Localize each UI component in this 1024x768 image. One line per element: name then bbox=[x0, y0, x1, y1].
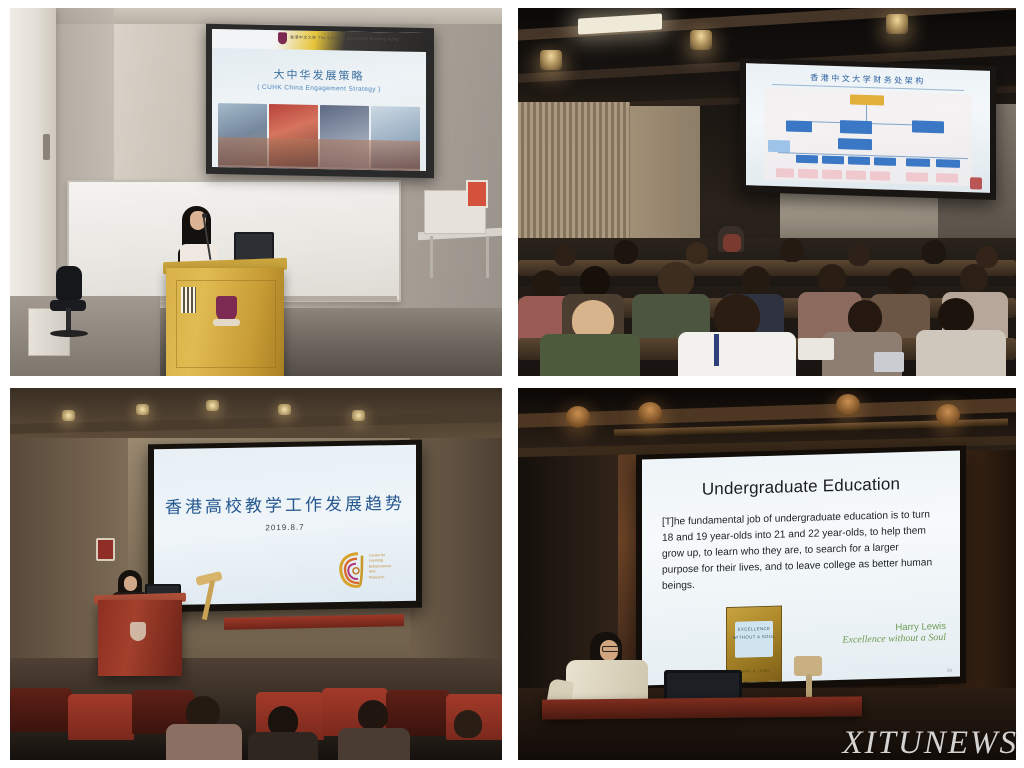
office-chair-pole bbox=[66, 308, 71, 332]
audience-head bbox=[686, 242, 708, 264]
projection-screen-bottom-right: Undergraduate Education [T]he fundamenta… bbox=[642, 451, 960, 686]
audience-head bbox=[888, 268, 914, 294]
org-chart bbox=[764, 88, 972, 187]
audience-head bbox=[742, 266, 770, 294]
slide-page-number: 29 bbox=[947, 668, 952, 673]
lanyard-icon bbox=[714, 334, 719, 366]
downlight-icon bbox=[638, 402, 662, 424]
downlight-icon bbox=[352, 410, 365, 421]
projection-screen-top-right: 香港中文大学财务处架构 bbox=[746, 63, 990, 193]
slide-title: Undergraduate Education bbox=[642, 473, 960, 502]
cuhk-crest-icon bbox=[278, 32, 287, 44]
audience-torso bbox=[248, 732, 318, 760]
lectern-label bbox=[181, 287, 196, 313]
photo-panel-top-right: 香港中文大学财务处架构 bbox=[518, 8, 1016, 376]
downlight-icon bbox=[206, 400, 219, 411]
audience-head bbox=[960, 264, 988, 292]
stage-person-shirt bbox=[723, 234, 741, 252]
book-cover-title: EXCELLENCE WITHOUT A SOUL bbox=[727, 625, 781, 642]
office-chair-back bbox=[56, 266, 82, 300]
slide-stamp-icon bbox=[970, 177, 982, 189]
notebook bbox=[798, 338, 834, 360]
photo-panel-bottom-left: 香港高校教学工作发展趋势 2019.8.7 Centre for Learnin… bbox=[10, 388, 502, 760]
audience-head bbox=[818, 264, 846, 292]
slide-title-cn: 香港高校教学工作发展趋势 bbox=[154, 489, 416, 519]
lectern-crest-icon bbox=[130, 622, 146, 641]
audience-head bbox=[454, 710, 482, 738]
downlight-icon bbox=[62, 410, 75, 421]
slide-title-cn: 大中华发展策略 bbox=[212, 65, 426, 85]
side-table-legs bbox=[424, 236, 496, 278]
audience-head bbox=[658, 262, 694, 296]
projection-screen-bottom-left: 香港高校教学工作发展趋势 2019.8.7 Centre for Learnin… bbox=[154, 445, 416, 606]
downlight-icon bbox=[278, 404, 291, 415]
downlight-icon bbox=[540, 50, 562, 70]
slide-attribution: Harry Lewis Excellence without a Soul bbox=[842, 621, 946, 646]
slide-title-en: ( CUHK China Engagement Strategy ) bbox=[212, 83, 426, 94]
audience-head bbox=[554, 244, 576, 266]
audience-head bbox=[848, 300, 882, 334]
audience-torso bbox=[166, 724, 242, 760]
wall-sign-left bbox=[96, 538, 115, 561]
auditorium-seat bbox=[68, 694, 134, 740]
audience-head bbox=[358, 700, 388, 730]
lectern-crest-banner bbox=[213, 319, 240, 326]
downlight-icon bbox=[886, 14, 908, 34]
slide-body-text: [T]he fundamental job of undergraduate e… bbox=[662, 507, 938, 594]
speaker-face bbox=[124, 576, 137, 591]
audience-torso bbox=[338, 728, 410, 760]
projection-screen-top-left: 香港中文大學 The Chinese University of Hong Ko… bbox=[212, 29, 426, 171]
wall-sign bbox=[466, 180, 488, 208]
audience-head bbox=[848, 244, 870, 266]
microphone-head-icon bbox=[202, 213, 207, 218]
podium-desk bbox=[542, 696, 862, 719]
audience-head bbox=[938, 298, 974, 332]
downlight-icon bbox=[136, 404, 149, 415]
downlight-icon bbox=[566, 406, 590, 428]
slide-photo-strip-lower bbox=[218, 137, 420, 171]
acoustic-panel-wall bbox=[518, 102, 630, 252]
audience-head bbox=[922, 240, 946, 264]
office-chair-base bbox=[50, 330, 88, 337]
glasses-icon bbox=[602, 646, 620, 652]
acoustic-panel-wall-2 bbox=[630, 106, 700, 242]
photo-collage: 香港中文大學 The Chinese University of Hong Ko… bbox=[0, 0, 1024, 768]
downlight-icon bbox=[936, 404, 960, 426]
auditorium-wall-right bbox=[410, 432, 502, 672]
audience-torso bbox=[916, 330, 1006, 376]
door-handle-icon bbox=[43, 134, 50, 160]
photo-panel-bottom-right: Undergraduate Education [T]he fundamenta… bbox=[518, 388, 1016, 760]
podium-lamp-head bbox=[794, 656, 822, 676]
tablet-device bbox=[874, 352, 904, 372]
audience-head bbox=[532, 270, 560, 298]
audience-torso-white-shirt bbox=[678, 332, 796, 376]
downlight-icon bbox=[690, 30, 712, 50]
downlight-icon bbox=[836, 394, 860, 416]
audience-torso bbox=[540, 334, 640, 376]
photo-panel-top-left: 香港中文大學 The Chinese University of Hong Ko… bbox=[10, 8, 502, 376]
attribution-book-title: Excellence without a Soul bbox=[842, 632, 946, 646]
logo-wordmark: Centre for Learning Enhancement And Rese… bbox=[369, 553, 391, 580]
audience-head bbox=[780, 238, 804, 262]
auditorium-seat bbox=[10, 688, 72, 732]
slide-date: 2019.8.7 bbox=[154, 521, 416, 535]
audience-head bbox=[580, 266, 610, 296]
audience-head bbox=[614, 240, 638, 264]
